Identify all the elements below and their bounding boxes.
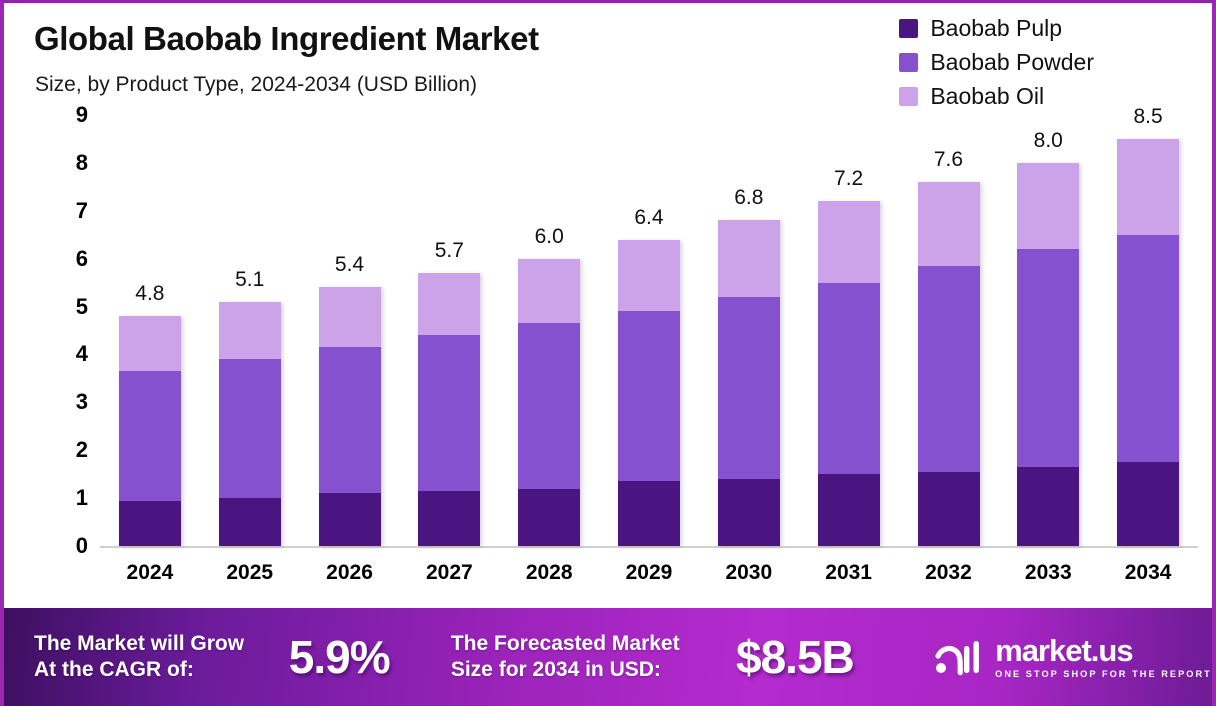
legend-item-0[interactable]: Baobab Pulp [899, 11, 1094, 45]
bar-group-2025[interactable]: 5.1 [200, 115, 300, 546]
bar-total-label: 6.8 [699, 186, 799, 210]
bar-total-label: 7.2 [799, 167, 899, 191]
stacked-bar[interactable] [1117, 139, 1179, 546]
chart-plot-area: 0123456789 4.85.15.45.76.06.46.87.27.68.… [4, 115, 1216, 610]
stacked-bar[interactable] [918, 182, 980, 546]
bar-segment-baobab-oil[interactable] [319, 287, 381, 347]
legend-swatch-icon [899, 87, 918, 106]
infographic-canvas: Global Baobab Ingredient Market Size, by… [0, 0, 1216, 706]
bar-segment-baobab-pulp[interactable] [418, 491, 480, 546]
x-axis-tick-2033: 2033 [998, 561, 1098, 585]
y-axis-tick-5: 5 [54, 294, 88, 320]
x-axis-tick-2029: 2029 [599, 561, 699, 585]
bar-segment-baobab-powder[interactable] [1017, 249, 1079, 467]
bar-group-2033[interactable]: 8.0 [998, 115, 1098, 546]
stacked-bar[interactable] [518, 259, 580, 546]
bar-segment-baobab-pulp[interactable] [319, 493, 381, 546]
bar-segment-baobab-pulp[interactable] [918, 472, 980, 546]
bar-total-label: 6.4 [599, 206, 699, 230]
chart-subtitle: Size, by Product Type, 2024-2034 (USD Bi… [35, 73, 477, 97]
legend-item-label: Baobab Oil [930, 83, 1044, 110]
bar-segment-baobab-powder[interactable] [418, 335, 480, 491]
bar-segment-baobab-pulp[interactable] [718, 479, 780, 546]
y-axis-tick-3: 3 [54, 389, 88, 415]
y-axis-tick-6: 6 [54, 246, 88, 272]
bar-total-label: 6.0 [499, 225, 599, 249]
y-axis-labels: 0123456789 [54, 115, 88, 560]
y-axis-tick-2: 2 [54, 437, 88, 463]
y-axis-tick-4: 4 [54, 341, 88, 367]
bar-total-label: 8.0 [998, 129, 1098, 153]
x-axis-tick-2026: 2026 [300, 561, 400, 585]
x-axis-line [100, 546, 1198, 548]
summary-banner: The Market will Grow At the CAGR of: 5.9… [4, 608, 1216, 706]
bar-segment-baobab-oil[interactable] [1117, 139, 1179, 235]
stacked-bar[interactable] [718, 220, 780, 546]
bar-segment-baobab-pulp[interactable] [1017, 467, 1079, 546]
y-axis-tick-0: 0 [54, 533, 88, 559]
chart-legend: Baobab PulpBaobab PowderBaobab Oil [899, 11, 1094, 113]
x-axis-labels: 2024202520262027202820292030203120322033… [100, 555, 1198, 595]
legend-item-2[interactable]: Baobab Oil [899, 79, 1094, 113]
x-axis-tick-2032: 2032 [899, 561, 999, 585]
bar-segment-baobab-pulp[interactable] [518, 489, 580, 546]
legend-item-1[interactable]: Baobab Powder [899, 45, 1094, 79]
bar-segment-baobab-oil[interactable] [818, 201, 880, 282]
bar-total-label: 5.1 [200, 268, 300, 292]
stacked-bar[interactable] [418, 273, 480, 546]
stacked-bar[interactable] [319, 287, 381, 546]
bar-segment-baobab-powder[interactable] [1117, 235, 1179, 462]
bar-segment-baobab-powder[interactable] [518, 323, 580, 488]
bar-segment-baobab-pulp[interactable] [119, 501, 181, 546]
bar-group-2032[interactable]: 7.6 [899, 115, 999, 546]
bar-total-label: 5.4 [300, 253, 400, 277]
bar-group-2030[interactable]: 6.8 [699, 115, 799, 546]
bar-group-2031[interactable]: 7.2 [799, 115, 899, 546]
stacked-bar[interactable] [818, 201, 880, 546]
bar-segment-baobab-oil[interactable] [918, 182, 980, 266]
logo-tagline: ONE STOP SHOP FOR THE REPORTS [995, 669, 1216, 679]
market-us-logo-icon [934, 637, 986, 677]
bar-group-2027[interactable]: 5.7 [399, 115, 499, 546]
y-axis-tick-8: 8 [54, 150, 88, 176]
bar-group-2028[interactable]: 6.0 [499, 115, 599, 546]
bar-segment-baobab-pulp[interactable] [618, 481, 680, 546]
logo-name: market.us [995, 635, 1216, 666]
bar-group-2034[interactable]: 8.5 [1098, 115, 1198, 546]
forecast-caption: The Forecasted Market Size for 2034 in U… [451, 631, 736, 682]
bar-segment-baobab-powder[interactable] [718, 297, 780, 479]
y-axis-tick-7: 7 [54, 198, 88, 224]
cagr-value: 5.9% [289, 630, 441, 684]
page-title: Global Baobab Ingredient Market [34, 20, 539, 58]
bar-segment-baobab-oil[interactable] [1017, 163, 1079, 249]
bar-segment-baobab-powder[interactable] [319, 347, 381, 493]
bar-segment-baobab-oil[interactable] [518, 259, 580, 324]
x-axis-tick-2027: 2027 [399, 561, 499, 585]
bar-total-label: 7.6 [899, 148, 999, 172]
cagr-caption: The Market will Grow At the CAGR of: [34, 631, 289, 682]
bar-group-2024[interactable]: 4.8 [100, 115, 200, 546]
stacked-bar[interactable] [618, 240, 680, 546]
stacked-bar[interactable] [1017, 163, 1079, 546]
legend-swatch-icon [899, 19, 918, 38]
legend-item-label: Baobab Pulp [930, 15, 1062, 42]
bar-segment-baobab-powder[interactable] [618, 311, 680, 481]
legend-swatch-icon [899, 53, 918, 72]
bar-group-2029[interactable]: 6.4 [599, 115, 699, 546]
forecast-value: $8.5B [736, 630, 926, 684]
bar-total-label: 8.5 [1098, 105, 1198, 129]
bar-segment-baobab-powder[interactable] [918, 266, 980, 472]
bar-segment-baobab-powder[interactable] [119, 371, 181, 500]
bar-total-label: 4.8 [100, 282, 200, 306]
x-axis-tick-2031: 2031 [799, 561, 899, 585]
bar-segment-baobab-oil[interactable] [618, 240, 680, 312]
bar-total-label: 5.7 [399, 239, 499, 263]
bar-segment-baobab-pulp[interactable] [1117, 462, 1179, 546]
bar-segment-baobab-oil[interactable] [219, 302, 281, 359]
y-axis-tick-9: 9 [54, 102, 88, 128]
stacked-bar[interactable] [119, 316, 181, 546]
stacked-bar[interactable] [219, 302, 281, 546]
bar-segment-baobab-oil[interactable] [718, 220, 780, 297]
x-axis-tick-2034: 2034 [1098, 561, 1198, 585]
legend-item-label: Baobab Powder [930, 49, 1094, 76]
brand-logo[interactable]: market.us ONE STOP SHOP FOR THE REPORTS [934, 635, 1216, 679]
bar-series-container: 4.85.15.45.76.06.46.87.27.68.08.5 [100, 115, 1198, 546]
bar-segment-baobab-powder[interactable] [219, 359, 281, 498]
bar-segment-baobab-pulp[interactable] [219, 498, 281, 546]
x-axis-tick-2030: 2030 [699, 561, 799, 585]
x-axis-tick-2025: 2025 [200, 561, 300, 585]
bar-group-2026[interactable]: 5.4 [300, 115, 400, 546]
x-axis-tick-2024: 2024 [100, 561, 200, 585]
bar-segment-baobab-powder[interactable] [818, 283, 880, 475]
bar-segment-baobab-pulp[interactable] [818, 474, 880, 546]
bar-segment-baobab-oil[interactable] [119, 316, 181, 371]
logo-text-block: market.us ONE STOP SHOP FOR THE REPORTS [995, 635, 1216, 679]
x-axis-tick-2028: 2028 [499, 561, 599, 585]
bar-segment-baobab-oil[interactable] [418, 273, 480, 335]
y-axis-tick-1: 1 [54, 485, 88, 511]
